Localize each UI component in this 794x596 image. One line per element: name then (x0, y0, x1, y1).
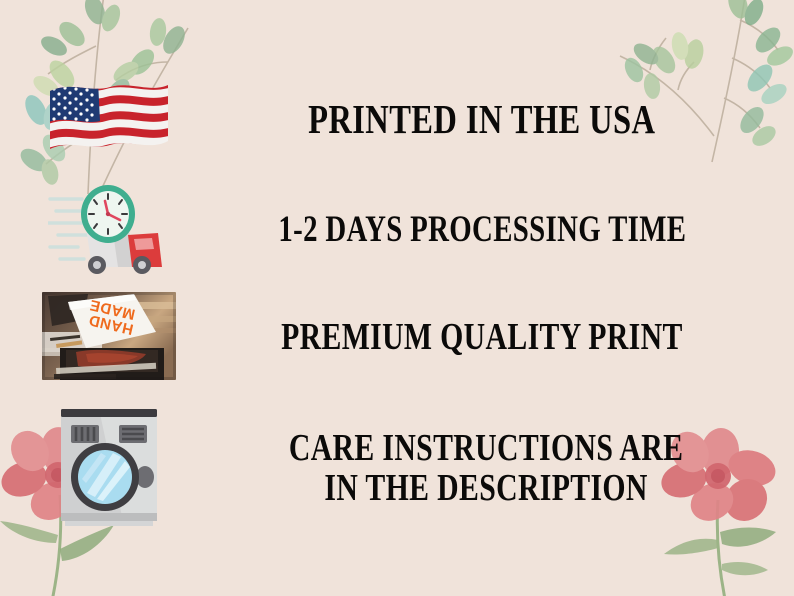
info-row-printed-in-usa: PRINTED IN THE USA (0, 72, 794, 168)
screen-print-photo: HAND MADE (42, 292, 176, 380)
text-cell-premium-quality: PREMIUM QUALITY PRINT (218, 319, 794, 353)
info-row-premium-quality: HAND MADE PREMIUM QUALIT (0, 284, 794, 388)
text-cell-printed-in-usa: PRINTED IN THE USA (218, 101, 794, 138)
text-cell-processing-time: 1-2 DAYS PROCESSING TIME (218, 212, 794, 245)
washing-machine-icon (53, 401, 165, 533)
info-row-care-instructions: CARE INSTRUCTIONS ARE IN THE DESCRIPTION (0, 392, 794, 542)
infographic-canvas: PRINTED IN THE USA (0, 0, 794, 596)
headline-premium-quality: PREMIUM QUALITY PRINT (281, 316, 683, 356)
info-row-processing-time: 1-2 DAYS PROCESSING TIME (0, 180, 794, 278)
headline-processing-time: 1-2 DAYS PROCESSING TIME (278, 209, 686, 248)
fast-delivery-truck-clock-icon (48, 181, 170, 277)
icon-cell-print-photo: HAND MADE (0, 292, 218, 380)
text-cell-care-instructions: CARE INSTRUCTIONS ARE IN THE DESCRIPTION (218, 433, 794, 501)
icon-cell-delivery-truck (0, 181, 218, 277)
headline-printed-in-usa: PRINTED IN THE USA (308, 98, 655, 142)
icon-cell-usa-flag (0, 77, 218, 163)
usa-flag-icon (46, 77, 172, 163)
icon-cell-washing-machine (0, 401, 218, 533)
headline-care-instructions: CARE INSTRUCTIONS ARE IN THE DESCRIPTION (289, 427, 683, 508)
